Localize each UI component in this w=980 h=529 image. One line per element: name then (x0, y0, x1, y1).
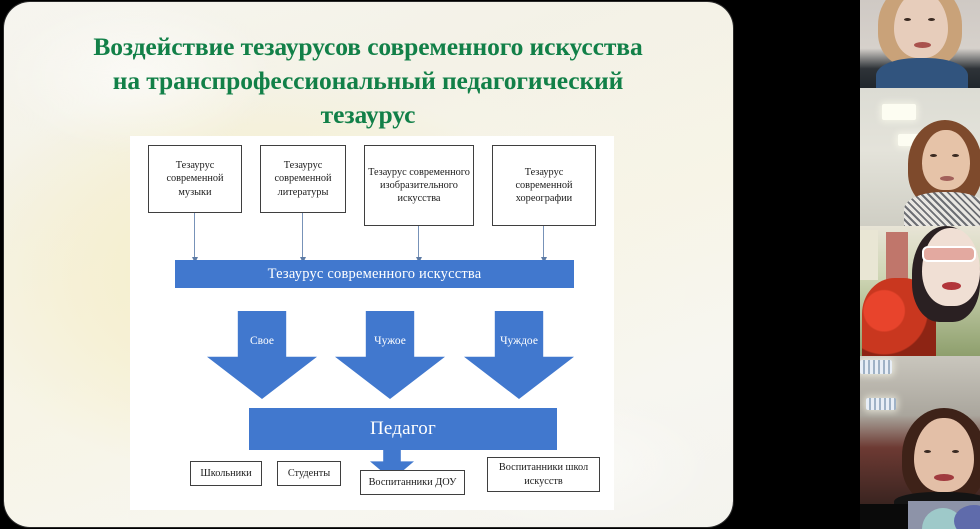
diagram-canvas: Тезаурус современной музыки Тезаурус сов… (130, 136, 614, 510)
source-box-fine-art: Тезаурус современного изобразительного и… (364, 145, 474, 226)
source-box-literature: Тезаурус современной литературы (260, 145, 346, 213)
audience-box-students: Студенты (277, 461, 341, 486)
audience-box-art-schools: Воспитанники школ искусств (487, 457, 600, 492)
tile-1-eye-left (904, 18, 911, 21)
flow-arrow-foreign-label: Чужое (335, 335, 445, 347)
slide-title-line-2: на транспрофессиональный педагогический (38, 64, 698, 98)
tile-2-mouth (940, 176, 954, 181)
connector-literature-to-aggregate (302, 213, 303, 258)
slide-title: Воздействие тезаурусов современного иску… (38, 30, 698, 132)
flow-arrow-alien: Чуждое (464, 311, 574, 399)
tile-4-eye-left (924, 450, 931, 453)
audience-box-schoolchildren: Школьники (190, 461, 262, 486)
tile-1-person (860, 0, 980, 88)
slide-title-line-3: тезаурус (38, 98, 698, 132)
participant-tile-4[interactable] (860, 356, 980, 504)
tile-2-eye-right (952, 154, 959, 157)
target-bar-pedagog: Педагог (249, 408, 557, 450)
participant-tile-2[interactable] (860, 88, 980, 226)
tile-1-torso (876, 58, 968, 88)
tile-4-mouth (934, 474, 954, 481)
aggregate-bar-contemporary-art: Тезаурус современного искусства (175, 260, 574, 288)
source-box-music: Тезаурус современной музыки (148, 145, 242, 213)
tile-4-person (860, 356, 980, 504)
flow-arrow-own: Свое (207, 311, 317, 399)
tile-3-person (860, 226, 980, 356)
audience-box-preschool: Воспитанники ДОУ (360, 470, 465, 495)
slide-title-line-1: Воздействие тезаурусов современного иску… (38, 30, 698, 64)
participant-tile-5[interactable] (908, 501, 980, 529)
tile-2-eye-left (930, 154, 937, 157)
shared-presentation-slide: Воздействие тезаурусов современного иску… (4, 2, 733, 527)
participant-tile-1[interactable] (860, 0, 980, 88)
tile-1-eye-right (928, 18, 935, 21)
flow-arrow-alien-label: Чуждое (464, 335, 574, 347)
flow-arrow-own-label: Свое (207, 335, 317, 347)
tile-1-head (894, 0, 948, 58)
source-box-choreography: Тезаурус современной хореографии (492, 145, 596, 226)
connector-choreography-to-aggregate (543, 226, 544, 258)
participant-filmstrip[interactable] (860, 0, 980, 529)
arrow-shape-foreign (335, 311, 445, 399)
tile-3-head (922, 228, 980, 306)
avatar-secondary-blob (954, 505, 980, 529)
arrow-shape-alien (464, 311, 574, 399)
tile-2-head (922, 130, 970, 190)
connector-music-to-aggregate (194, 213, 195, 258)
tile-2-person (860, 88, 980, 226)
tile-2-torso (904, 192, 980, 226)
arrow-shape-own (207, 311, 317, 399)
tile-4-eye-right (952, 450, 959, 453)
tile-3-mouth (942, 282, 961, 290)
connector-fine-art-to-aggregate (418, 226, 419, 258)
flow-arrow-foreign: Чужое (335, 311, 445, 399)
tile-1-mouth (914, 42, 931, 48)
tile-3-sunglasses (922, 246, 976, 262)
screen-share-meeting-window: Воздействие тезаурусов современного иску… (0, 0, 980, 529)
participant-tile-3[interactable] (860, 226, 980, 356)
